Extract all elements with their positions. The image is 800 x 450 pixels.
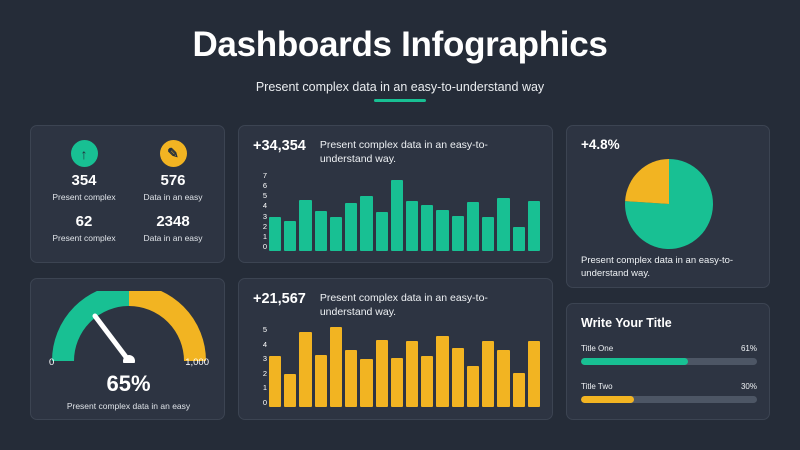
kpi-item-2: ✎ 576 Data in an easy: [130, 140, 216, 202]
progress-label: Title Two: [581, 382, 613, 391]
progress-value: 61%: [741, 344, 757, 353]
progress-value: 30%: [741, 382, 757, 391]
pie-chart: [616, 158, 722, 250]
pie-percent-label: +4.8%: [581, 137, 620, 152]
gauge-max-label: 1,000: [185, 357, 209, 368]
yellow-bar-total: +21,567: [253, 291, 306, 307]
axis-tick: 0: [253, 242, 267, 251]
arrow-up-icon: ↑: [71, 140, 98, 167]
chart-bar: [315, 211, 327, 251]
chart-bar: [376, 212, 388, 251]
chart-bar: [284, 374, 296, 407]
pie-card: +4.8% Present complex data in an easy-to…: [566, 125, 770, 288]
chart-bar: [436, 336, 448, 407]
chart-bar: [497, 350, 509, 407]
chart-bar: [360, 196, 372, 251]
chart-bar: [482, 341, 494, 407]
pencil-icon: ✎: [160, 140, 187, 167]
progress-item-2: Title Two 30%: [581, 382, 757, 403]
gauge-chart: [49, 291, 209, 363]
teal-bar-bars: [269, 171, 540, 251]
progress-label: Title One: [581, 344, 613, 353]
gauge-card: 0 1,000 65% Present complex data in an e…: [30, 278, 225, 420]
yellow-bar-yaxis: 543210: [253, 325, 267, 407]
chart-bar: [513, 373, 525, 407]
chart-bar: [406, 201, 418, 251]
kpi-label: Present complex: [41, 192, 127, 202]
progress-fill: [581, 358, 688, 365]
arrow-up-glyph: ↑: [81, 146, 88, 162]
axis-tick: 5: [253, 191, 267, 200]
axis-tick: 3: [253, 354, 267, 363]
kpi-label: Present complex: [41, 233, 127, 243]
teal-bar-total: +34,354: [253, 138, 306, 154]
progress-track: [581, 358, 757, 365]
teal-bar-plot: 76543210: [253, 171, 540, 251]
teal-bar-header: +34,354 Present complex data in an easy-…: [253, 138, 505, 166]
chart-bar: [467, 366, 479, 407]
chart-bar: [497, 198, 509, 251]
teal-bar-yaxis: 76543210: [253, 171, 267, 251]
yellow-bar-plot: 543210: [253, 325, 540, 407]
teal-bar-card: +34,354 Present complex data in an easy-…: [238, 125, 553, 263]
chart-bar: [513, 227, 525, 251]
progress-fill: [581, 396, 634, 403]
chart-bar: [391, 180, 403, 251]
progress-item-1: Title One 61%: [581, 344, 757, 365]
axis-tick: 6: [253, 181, 267, 190]
kpi-value: 576: [130, 173, 216, 189]
axis-tick: 4: [253, 201, 267, 210]
gauge-needle: [95, 316, 129, 361]
chart-bar: [467, 202, 479, 251]
gauge-svg: [49, 291, 209, 363]
chart-bar: [528, 201, 540, 251]
gauge-arc-second: [129, 295, 195, 361]
gauge-scale: 0 1,000: [49, 357, 209, 368]
pie-caption: Present complex data in an easy-to-under…: [581, 254, 757, 280]
page-subtitle: Present complex data in an easy-to-under…: [0, 80, 800, 94]
chart-bar: [269, 217, 281, 251]
pie-slice-2: [625, 159, 669, 204]
gauge-percent: 65%: [31, 371, 226, 397]
chart-bar: [452, 216, 464, 251]
axis-tick: 2: [253, 222, 267, 231]
chart-bar: [345, 203, 357, 251]
title-underline: [374, 99, 426, 102]
chart-bar: [406, 341, 418, 407]
chart-bar: [269, 356, 281, 407]
chart-bar: [421, 356, 433, 407]
kpi-item-4: 2348 Data in an easy: [130, 214, 216, 243]
pie-svg: [616, 158, 722, 250]
chart-bar: [376, 340, 388, 407]
chart-bar: [330, 327, 342, 407]
kpi-label: Data in an easy: [130, 192, 216, 202]
axis-tick: 7: [253, 171, 267, 180]
progress-card-title: Write Your Title: [581, 316, 672, 330]
chart-bar: [482, 217, 494, 251]
axis-tick: 1: [253, 383, 267, 392]
axis-tick: 4: [253, 340, 267, 349]
teal-bar-description: Present complex data in an easy-to-under…: [320, 138, 505, 166]
kpi-label: Data in an easy: [130, 233, 216, 243]
gauge-min-label: 0: [49, 357, 54, 368]
chart-bar: [360, 359, 372, 407]
slide-root: Dashboards Infographics Present complex …: [0, 0, 800, 450]
chart-bar: [284, 221, 296, 251]
chart-bar: [345, 350, 357, 407]
page-title: Dashboards Infographics: [0, 25, 800, 65]
yellow-bar-description: Present complex data in an easy-to-under…: [320, 291, 505, 319]
chart-bar: [299, 200, 311, 251]
chart-bar: [330, 217, 342, 251]
yellow-bar-card: +21,567 Present complex data in an easy-…: [238, 278, 553, 420]
chart-bar: [452, 348, 464, 407]
progress-card: Write Your Title Title One 61% Title Two…: [566, 303, 770, 420]
kpi-item-1: ↑ 354 Present complex: [41, 140, 127, 202]
kpi-value: 62: [41, 214, 127, 230]
chart-bar: [528, 341, 540, 407]
yellow-bar-bars: [269, 325, 540, 407]
chart-bar: [391, 358, 403, 407]
chart-bar: [421, 205, 433, 251]
kpi-value: 354: [41, 173, 127, 189]
axis-tick: 0: [253, 398, 267, 407]
axis-tick: 1: [253, 232, 267, 241]
gauge-caption: Present complex data in an easy: [31, 401, 226, 411]
kpi-value: 2348: [130, 214, 216, 230]
chart-bar: [436, 210, 448, 251]
chart-bar: [315, 355, 327, 407]
pencil-glyph: ✎: [167, 145, 179, 162]
axis-tick: 3: [253, 212, 267, 221]
kpi-item-3: 62 Present complex: [41, 214, 127, 243]
kpi-card: ↑ 354 Present complex ✎ 576 Data in an e…: [30, 125, 225, 263]
yellow-bar-header: +21,567 Present complex data in an easy-…: [253, 291, 505, 319]
axis-tick: 2: [253, 369, 267, 378]
progress-track: [581, 396, 757, 403]
chart-bar: [299, 332, 311, 407]
axis-tick: 5: [253, 325, 267, 334]
